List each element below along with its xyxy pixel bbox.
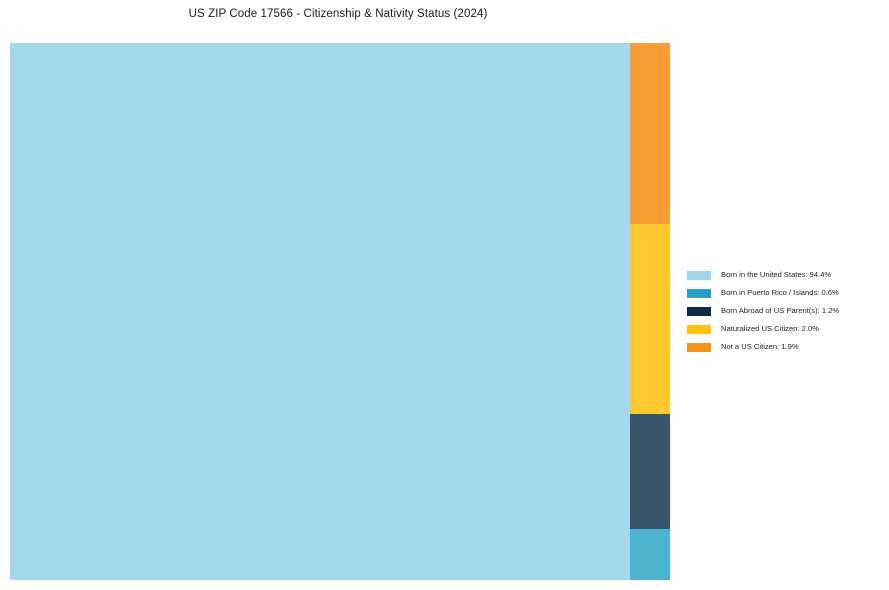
treemap-tile-born-in-puerto-rico-islands[interactable] xyxy=(630,529,670,580)
legend-item[interactable]: Not a US Citizen: 1.9% xyxy=(687,338,882,356)
legend-item-label: Not a US Citizen: 1.9% xyxy=(721,343,799,351)
legend-item[interactable]: Naturalized US Citizen: 2.0% xyxy=(687,320,882,338)
legend-item[interactable]: Born in the United States: 94.4% xyxy=(687,266,882,284)
legend-swatch-icon xyxy=(687,307,711,316)
legend-swatch-icon xyxy=(687,343,711,352)
legend-item[interactable]: Born in Puerto Rico / Islands: 0.6% xyxy=(687,284,882,302)
legend-swatch-icon xyxy=(687,325,711,334)
treemap-chart: US ZIP Code 17566 - Citizenship & Nativi… xyxy=(0,0,889,590)
legend-item-label: Born Abroad of US Parent(s): 1.2% xyxy=(721,307,839,315)
legend-item-label: Born in the United States: 94.4% xyxy=(721,271,831,279)
legend-swatch-icon xyxy=(687,271,711,280)
chart-legend: Born in the United States: 94.4%Born in … xyxy=(687,266,882,356)
treemap-plot-area xyxy=(10,43,670,580)
treemap-tile-not-a-us-citizen[interactable] xyxy=(630,43,670,224)
treemap-tile-naturalized-us-citizen[interactable] xyxy=(630,224,670,414)
treemap-tile-born-in-united-states[interactable] xyxy=(10,43,630,580)
chart-title: US ZIP Code 17566 - Citizenship & Nativi… xyxy=(0,8,676,20)
treemap-tile-born-abroad-of-us-parents[interactable] xyxy=(630,414,670,529)
legend-swatch-icon xyxy=(687,289,711,298)
legend-item-label: Born in Puerto Rico / Islands: 0.6% xyxy=(721,289,839,297)
legend-item-label: Naturalized US Citizen: 2.0% xyxy=(721,325,819,333)
legend-item[interactable]: Born Abroad of US Parent(s): 1.2% xyxy=(687,302,882,320)
